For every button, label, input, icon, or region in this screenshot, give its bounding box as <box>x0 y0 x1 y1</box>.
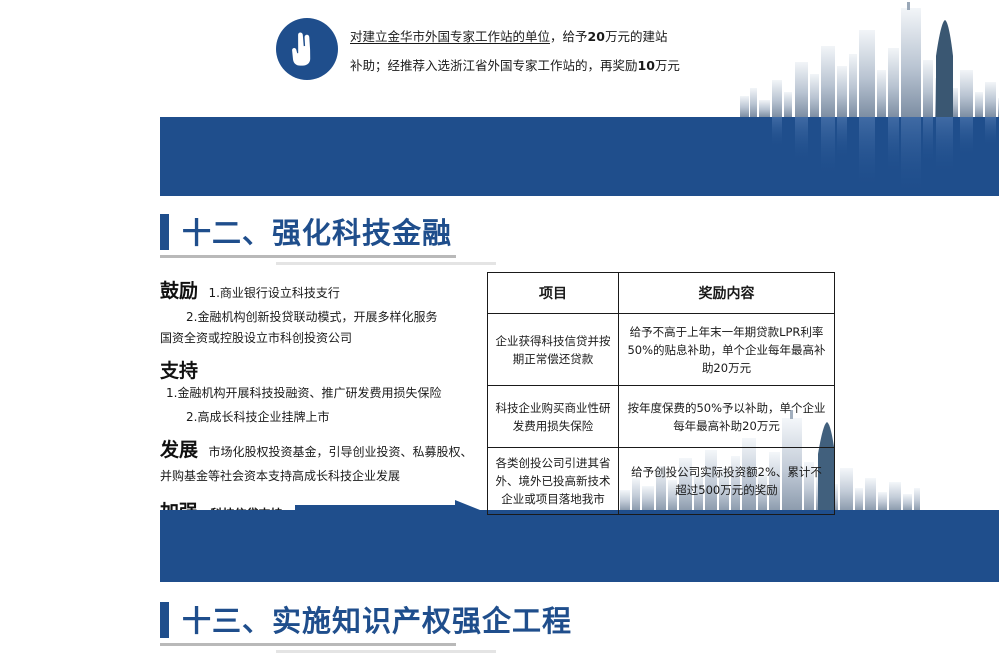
incentive-table: 项目 奖励内容 企业获得科技信贷并按期正常偿还贷款 给予不高于上年末一年期贷款L… <box>487 272 835 515</box>
callout-line1-rest-b: 万元的建站 <box>605 29 668 44</box>
callout-line2-b: 万元 <box>655 58 680 73</box>
bottom-band-water <box>160 510 999 582</box>
section-13-heading: 十三、实施知识产权强企工程 <box>160 598 860 653</box>
table-header-row: 项目 奖励内容 <box>488 273 835 314</box>
section-12-rule <box>160 255 456 258</box>
section-12-heading: 十二、强化科技金融 <box>160 210 860 265</box>
table-header-reward: 奖励内容 <box>619 273 835 314</box>
slide-page: 对建立金华市外国专家工作站的单位，给予20万元的建站 补助；经推荐入选浙江省外国… <box>0 0 999 658</box>
callout-line1-amount: 20 <box>588 29 605 44</box>
section-13-accent-bar <box>160 602 169 638</box>
table-row: 科技企业购买商业性研发费用损失保险 按年度保费的50%予以补助，单个企业每年最高… <box>488 386 835 448</box>
table-cell-reward: 给予不高于上年末一年期贷款LPR利率50%的贴息补助，单个企业每年最高补助20万… <box>619 314 835 386</box>
table-header-item: 项目 <box>488 273 619 314</box>
callout-line-2: 补助；经推荐入选浙江省外国专家工作站的，再奖励10万元 <box>350 51 750 80</box>
section-13-rule <box>160 643 456 646</box>
section-13-title: 十三、实施知识产权强企工程 <box>182 598 572 640</box>
top-skyline-graphic <box>740 0 999 196</box>
callout-line1-underlined: 对建立金华市外国专家工作站的单位 <box>350 29 550 44</box>
victory-hand-icon <box>276 18 338 80</box>
section-12-title: 十二、强化科技金融 <box>182 210 452 252</box>
callout-block: 对建立金华市外国专家工作站的单位，给予20万元的建站 补助；经推荐入选浙江省外国… <box>276 18 756 88</box>
table-cell-item: 各类创投公司引进其省外、境外已投高新技术企业或项目落地我市 <box>488 448 619 515</box>
callout-line2-amount: 10 <box>638 58 655 73</box>
section-12-rule-shadow <box>276 262 496 265</box>
callout-line-1: 对建立金华市外国专家工作站的单位，给予20万元的建站 <box>350 22 750 51</box>
measure-group: 鼓励 1.商业银行设立科技支行 <box>160 276 480 304</box>
table-cell-reward: 给予创投公司实际投资额2%、累计不超过500万元的奖励 <box>619 448 835 515</box>
measure-keyword: 支持 <box>160 356 198 383</box>
measure-keyword: 鼓励 <box>160 276 198 303</box>
table-row: 企业获得科技信贷并按期正常偿还贷款 给予不高于上年末一年期贷款LPR利率50%的… <box>488 314 835 386</box>
table-cell-item: 企业获得科技信贷并按期正常偿还贷款 <box>488 314 619 386</box>
measure-sub-line: 2.金融机构创新投贷联动模式，开展多样化服务 <box>160 307 480 328</box>
callout-text: 对建立金华市外国专家工作站的单位，给予20万元的建站 补助；经推荐入选浙江省外国… <box>350 22 750 80</box>
callout-line1-rest-a: ，给予 <box>550 29 588 44</box>
callout-line2-a: 补助；经推荐入选浙江省外国专家工作站的，再奖励 <box>350 58 638 73</box>
table-row: 各类创投公司引进其省外、境外已投高新技术企业或项目落地我市 给予创投公司实际投资… <box>488 448 835 515</box>
table-cell-reward: 按年度保费的50%予以补助，单个企业每年最高补助20万元 <box>619 386 835 448</box>
measure-first-line: 1.商业银行设立科技支行 <box>208 283 339 304</box>
section-13-rule-shadow <box>276 650 496 653</box>
table-cell-item: 科技企业购买商业性研发费用损失保险 <box>488 386 619 448</box>
section-12-accent-bar <box>160 214 169 250</box>
measure-sub-line: 国资全资或控股设立市科创投资公司 <box>160 328 480 349</box>
